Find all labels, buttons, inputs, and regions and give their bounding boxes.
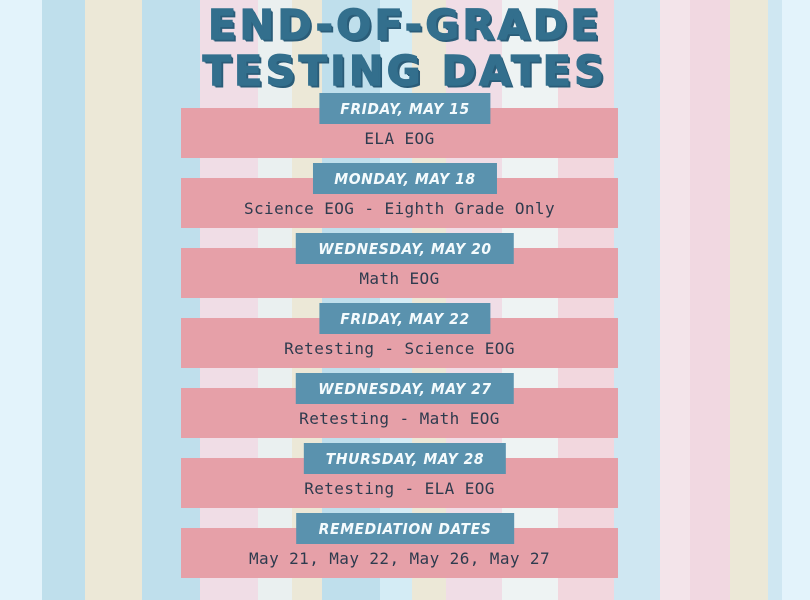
schedule-date-banner: WEDNESDAY, MAY 27: [296, 373, 514, 404]
schedule-date-banner: THURSDAY, MAY 28: [304, 443, 506, 474]
schedule-date-banner: FRIDAY, MAY 15: [319, 93, 490, 124]
page-title-line-2: TESTING DATES: [0, 48, 810, 94]
schedule-event-label: Retesting - ELA EOG: [181, 479, 618, 498]
schedule-event-label: May 21, May 22, May 26, May 27: [181, 549, 618, 568]
schedule-list: FRIDAY, MAY 15ELA EOGMONDAY, MAY 18Scien…: [0, 93, 810, 583]
schedule-date-banner: WEDNESDAY, MAY 20: [296, 233, 514, 264]
schedule-event-label: Math EOG: [181, 269, 618, 288]
schedule-date-label: WEDNESDAY, MAY 27: [318, 380, 491, 398]
schedule-row: THURSDAY, MAY 28Retesting - ELA EOG: [0, 443, 810, 513]
schedule-row: REMEDIATION DATESMay 21, May 22, May 26,…: [0, 513, 810, 583]
schedule-date-label: WEDNESDAY, MAY 20: [318, 240, 491, 258]
schedule-row: WEDNESDAY, MAY 20Math EOG: [0, 233, 810, 303]
schedule-row: MONDAY, MAY 18Science EOG - Eighth Grade…: [0, 163, 810, 233]
schedule-row: WEDNESDAY, MAY 27Retesting - Math EOG: [0, 373, 810, 443]
schedule-event-label: ELA EOG: [181, 129, 618, 148]
page-title: END-OF-GRADE TESTING DATES: [0, 2, 810, 94]
schedule-date-label: REMEDIATION DATES: [319, 520, 492, 538]
schedule-date-banner: FRIDAY, MAY 22: [319, 303, 490, 334]
testing-dates-poster: END-OF-GRADE TESTING DATES FRIDAY, MAY 1…: [0, 0, 810, 600]
schedule-date-banner: MONDAY, MAY 18: [313, 163, 497, 194]
schedule-row: FRIDAY, MAY 15ELA EOG: [0, 93, 810, 163]
schedule-event-label: Retesting - Math EOG: [181, 409, 618, 428]
schedule-date-label: THURSDAY, MAY 28: [326, 450, 484, 468]
schedule-event-label: Science EOG - Eighth Grade Only: [181, 199, 618, 218]
page-title-line-1: END-OF-GRADE: [0, 2, 810, 48]
schedule-date-banner: REMEDIATION DATES: [296, 513, 514, 544]
schedule-date-label: FRIDAY, MAY 15: [340, 100, 469, 118]
schedule-date-label: MONDAY, MAY 18: [334, 170, 475, 188]
schedule-event-label: Retesting - Science EOG: [181, 339, 618, 358]
schedule-row: FRIDAY, MAY 22Retesting - Science EOG: [0, 303, 810, 373]
schedule-date-label: FRIDAY, MAY 22: [340, 310, 469, 328]
